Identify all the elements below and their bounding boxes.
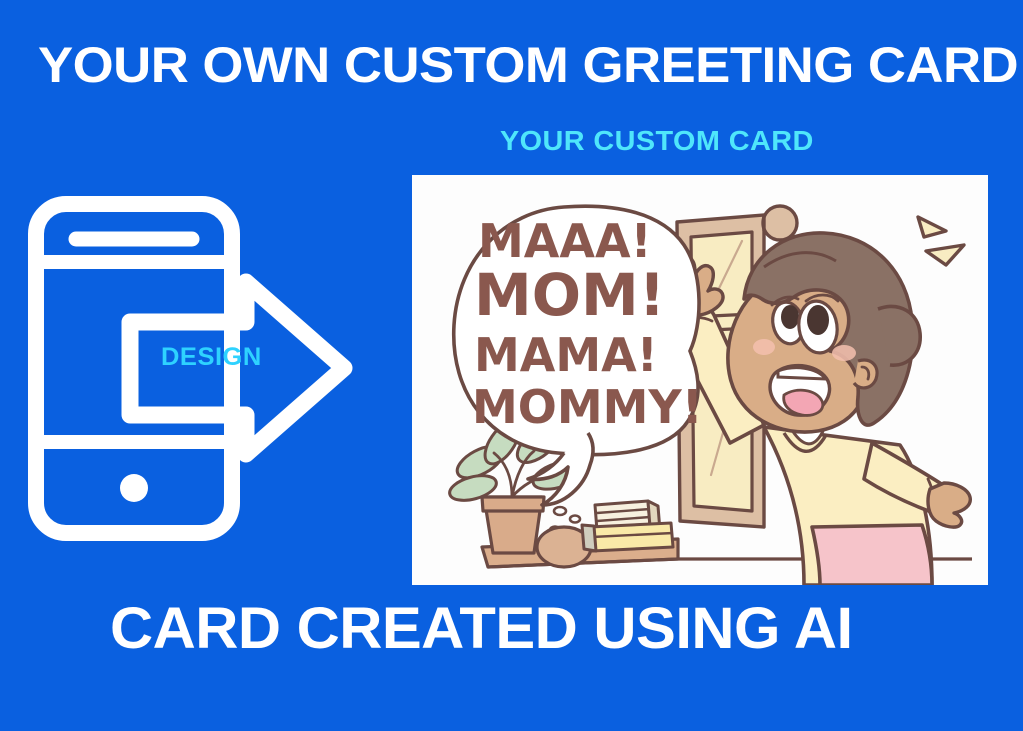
bubble-line-4: MOMMY! (472, 380, 703, 434)
book-stack (582, 501, 673, 551)
greeting-card-illustration: .ln { fill:none; stroke:#6b4a43; stroke-… (412, 175, 988, 585)
page-subtitle: CARD CREATED USING AI (110, 600, 853, 658)
bubble-line-2: MOM! (474, 261, 665, 329)
design-label: DESIGN (161, 345, 262, 370)
bubble-line-3: MAMA! (474, 328, 658, 382)
page-title: YOUR OWN CUSTOM GREETING CARD (38, 40, 1018, 90)
promo-canvas: YOUR OWN CUSTOM GREETING CARD YOUR CUSTO… (0, 0, 1023, 731)
card-section-label: YOUR CUSTOM CARD (500, 127, 814, 155)
bubble-line-1: MAAA! (478, 214, 652, 268)
